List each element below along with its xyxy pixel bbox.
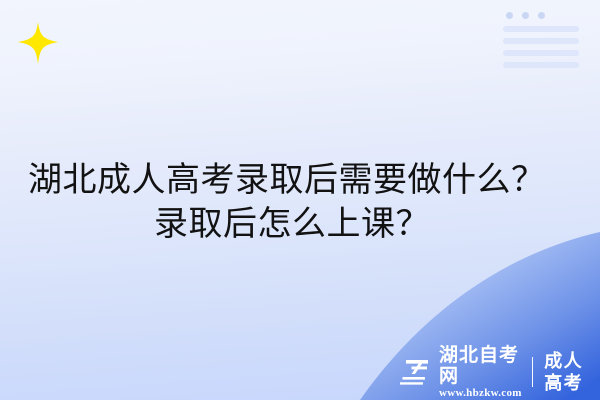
brand-name: 湖北自考网 — [439, 345, 522, 387]
sparkle-star-icon — [14, 20, 60, 66]
headline-line-1: 湖北成人高考录取后需要做什么？ — [22, 158, 578, 202]
brand-logo[interactable]: 湖北自考网 www.hbzkw.com 成人高考 — [398, 352, 600, 392]
brand-tagline: 成人高考 — [544, 350, 600, 394]
hbzkw-logo-icon — [398, 357, 431, 387]
window-bar — [503, 62, 579, 68]
window-bar — [503, 26, 579, 32]
window-dot — [538, 12, 545, 19]
window-lines-icon — [503, 12, 581, 68]
window-bar — [503, 50, 579, 56]
brand-text-block: 湖北自考网 www.hbzkw.com — [439, 345, 522, 400]
brand-divider — [532, 357, 533, 387]
headline-line-2: 录取后怎么上课？ — [22, 202, 578, 246]
window-dots — [506, 12, 581, 19]
window-dot — [506, 12, 513, 19]
page-title: 湖北成人高考录取后需要做什么？ 录取后怎么上课？ — [0, 158, 600, 246]
promo-banner: 湖北成人高考录取后需要做什么？ 录取后怎么上课？ 湖北自考网 www.hbzkw… — [0, 0, 600, 400]
brand-url: www.hbzkw.com — [439, 387, 522, 400]
window-bar — [503, 38, 579, 44]
window-bars — [503, 26, 581, 68]
window-dot — [522, 12, 529, 19]
